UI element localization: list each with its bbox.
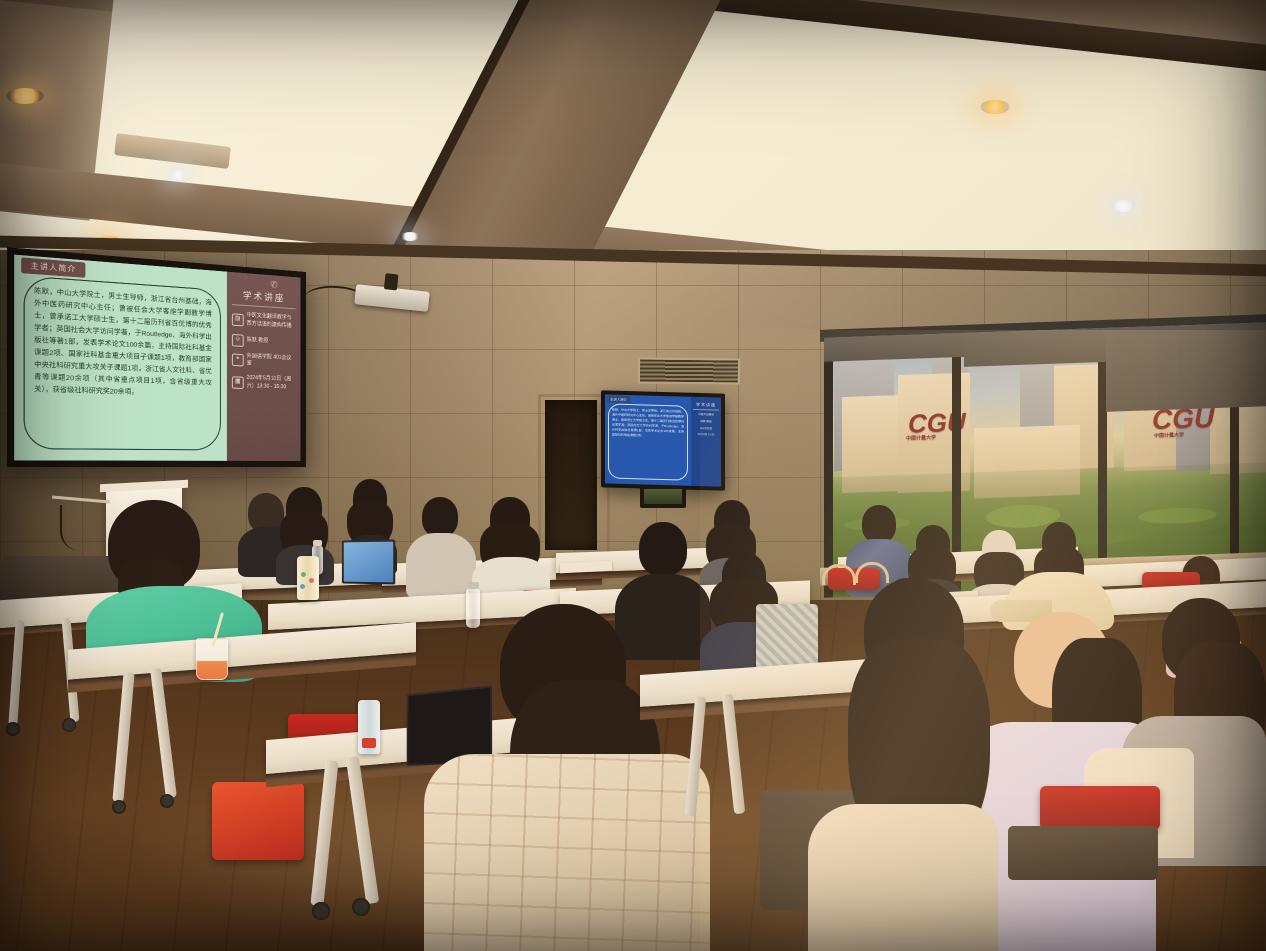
tv-left-column: 主讲人简介 陈默，中山大学院士，男士生导师，浙江省台州基础，海外中医药研究中心主… bbox=[605, 394, 691, 485]
laptop-back-row[interactable] bbox=[342, 540, 395, 585]
head bbox=[639, 522, 687, 576]
wall-air-vent bbox=[638, 357, 740, 384]
tv-info-datetime: 5月10日 13:30 bbox=[693, 433, 719, 437]
tv-body-text: 陈默，中山大学院士，男士生导师，浙江省台州基础，海外中医药研究中心主任；曾被任会… bbox=[612, 408, 684, 440]
chair-red-front-left[interactable] bbox=[212, 782, 304, 860]
thermos-dot-3 bbox=[300, 584, 305, 589]
downlight-warm-1 bbox=[6, 88, 44, 104]
projection-screen: 主讲人简介 陈默，中山大学院士，男士生导师，浙江省台州基础，海外中医药研究中心主… bbox=[7, 247, 306, 467]
person-plaid-jacket bbox=[424, 604, 710, 951]
slide-right-title: 学术讲座 bbox=[232, 288, 296, 310]
slide-info-location: 外国语学院 401会议室 bbox=[247, 353, 296, 371]
desk-caster-6 bbox=[352, 898, 370, 916]
downlight-cool-6 bbox=[1110, 200, 1136, 212]
location-icon: ⌖ bbox=[232, 354, 244, 367]
desk-caster-3 bbox=[112, 800, 126, 814]
phone-icon: ✆ bbox=[270, 279, 277, 291]
tv-info-speaker: 陈默 教授 bbox=[693, 420, 719, 424]
tv-mount-glass bbox=[644, 489, 682, 504]
lecture-hall-photo: 主讲人简介 陈默，中山大学院士，男士生导师，浙江省台州基础，海外中医药研究中心主… bbox=[0, 0, 1266, 951]
cgu-sign-text-2: 中国计量大学 bbox=[1154, 431, 1184, 439]
wall-mounted-tv: 主讲人简介 陈默，中山大学院士，男士生导师，浙江省台州基础，海外中医药研究中心主… bbox=[601, 390, 725, 490]
downlight-warm-3 bbox=[980, 100, 1010, 114]
tv-info-location: 401会议室 bbox=[693, 426, 719, 430]
slide-info-row-datetime: ▦ 2024年5月10日（周六）13:30 - 15:30 bbox=[232, 374, 296, 392]
window-blind-1[interactable] bbox=[824, 333, 964, 362]
slide-info-row-topic: ▤ 中医文化翻译教学与西方话语的建构传播 bbox=[232, 311, 296, 331]
window-blind-3[interactable] bbox=[1106, 322, 1266, 412]
bottle-cap bbox=[313, 540, 322, 546]
head bbox=[422, 497, 458, 537]
tv-right-title: 学术讲座 bbox=[693, 402, 719, 411]
desk-caster-1 bbox=[6, 722, 20, 736]
head bbox=[862, 505, 896, 543]
slide-info-row-speaker: ☺ 陈默 教授 bbox=[232, 334, 296, 350]
tv-info-topic: 中医文化翻译 bbox=[693, 413, 719, 417]
tv-section-tag: 主讲人简介 bbox=[607, 395, 630, 403]
bottle-cap-row2 bbox=[467, 582, 479, 589]
desk-caster-4 bbox=[160, 794, 174, 808]
downlight-cool-2 bbox=[168, 170, 188, 180]
laptop-screen bbox=[344, 542, 393, 583]
slide-info-datetime: 2024年5月10日（周六）13:30 - 15:30 bbox=[247, 375, 296, 393]
slide-info-topic: 中医文化翻译教学与西方话语的建构传播 bbox=[247, 312, 296, 331]
plaid-jacket bbox=[424, 754, 710, 951]
thermos-label bbox=[362, 738, 376, 748]
cream-jacket bbox=[808, 804, 998, 951]
chair-dark-right[interactable] bbox=[1008, 826, 1158, 880]
open-doorway bbox=[545, 400, 597, 550]
desk-caster-5 bbox=[312, 902, 330, 920]
window-blind-2[interactable] bbox=[964, 328, 1106, 367]
thermos-dot-2 bbox=[309, 578, 314, 583]
person-grey-shirt bbox=[406, 497, 476, 595]
cgu-sign-text-1: 中国计量大学 bbox=[906, 434, 936, 442]
slide-content: 主讲人简介 陈默，中山大学院士，男士生导师，浙江省台州基础，海外中医药研究中心主… bbox=[14, 255, 300, 461]
slide-body-box: 陈默，中山大学院士，男士生导师，浙江省台州基础，海外中医药研究中心主任；曾被任会… bbox=[24, 276, 221, 451]
slide-info-speaker: 陈默 教授 bbox=[247, 336, 269, 345]
thermos-dot-1 bbox=[301, 572, 306, 577]
slide-right-panel: ✆ 学术讲座 ▤ 中医文化翻译教学与西方话语的建构传播 ☺ 陈默 教授 ⌖ 外国… bbox=[227, 272, 301, 461]
downlight-cool-5 bbox=[400, 232, 420, 241]
person-long-hair-foreground bbox=[808, 578, 998, 951]
slide-section-tag: 主讲人简介 bbox=[21, 257, 85, 277]
tv-right-panel: 学术讲座 中医文化翻译 陈默 教授 401会议室 5月10日 13:30 bbox=[691, 397, 721, 487]
calendar-icon: ▦ bbox=[232, 376, 244, 389]
person-white-blouse bbox=[472, 497, 550, 599]
slide-left-column: 主讲人简介 陈默，中山大学院士，男士生导师，浙江省台州基础，海外中医药研究中心主… bbox=[14, 255, 227, 461]
slide-info-row-location: ⌖ 外国语学院 401会议室 bbox=[232, 352, 296, 371]
polka-dot-thermos bbox=[297, 556, 319, 600]
slide-body-text: 陈默，中山大学院士，男士生导师，浙江省台州基础，海外中医药研究中心主任；曾被任会… bbox=[34, 285, 212, 400]
tv-screen: 主讲人简介 陈默，中山大学院士，男士生导师，浙江省台州基础，海外中医药研究中心主… bbox=[605, 394, 721, 486]
book-icon: ▤ bbox=[232, 313, 244, 326]
person-icon: ☺ bbox=[232, 334, 244, 347]
chair-red-right-front[interactable] bbox=[1040, 786, 1160, 830]
window-mullion-1 bbox=[824, 337, 833, 597]
tv-body-box: 陈默，中山大学院士，男士生导师，浙江省台州基础，海外中医药研究中心主任；曾被任会… bbox=[608, 403, 688, 480]
desk-caster-2 bbox=[62, 718, 76, 732]
